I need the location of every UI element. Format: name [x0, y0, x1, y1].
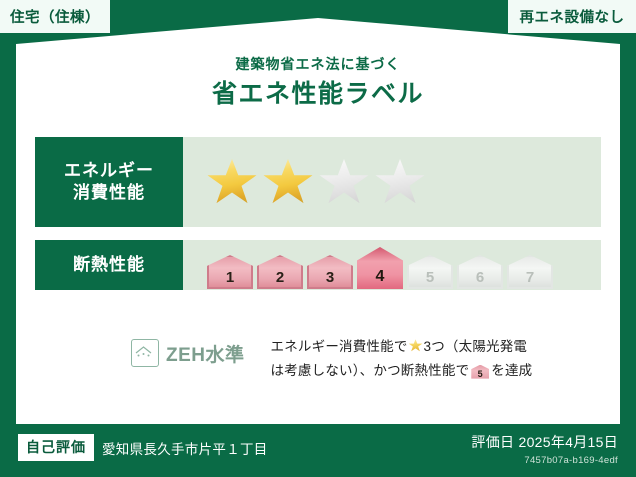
star-icon [409, 339, 423, 352]
dwelling-type-badge-label: 住宅（住棟） [10, 6, 100, 27]
zeh-standard-block: ZEH水準 エネルギー消費性能で3つ（太陽光発電 は考慮しない）、かつ断熱性能で… [35, 333, 601, 395]
zeh-label: ZEH水準 [166, 340, 245, 367]
star-icon [375, 158, 425, 206]
renewable-equipment-badge: 再エネ設備なし [508, 0, 636, 33]
label-id: 7457b07a-b169-4edf [471, 455, 618, 466]
insulation-grade-7: 7 [507, 255, 553, 289]
insulation-performance-label-box: 断熱性能 [35, 240, 183, 290]
insulation-grade-scale: 1234567 [183, 240, 601, 290]
insulation-grade-3: 3 [307, 255, 353, 289]
grade-strip: 1234567 [207, 239, 557, 291]
footer-left: 自己評価 愛知県長久手市片平１丁目 [18, 434, 268, 461]
energy-performance-label-line1: エネルギー [64, 160, 154, 182]
renewable-equipment-badge-label: 再エネ設備なし [520, 6, 625, 27]
dwelling-type-badge: 住宅（住棟） [0, 0, 110, 33]
star-icon [319, 158, 369, 206]
star-icon [207, 158, 257, 206]
star-rating [183, 137, 601, 227]
evaluation-date: 評価日 2025年4月15日 [471, 432, 618, 452]
zeh-desc-part4: を達成 [491, 363, 532, 378]
grade-badge-icon: 5 [471, 365, 489, 379]
page-title: 省エネ性能ラベル [0, 79, 636, 109]
zeh-mark: ZEH水準 [131, 339, 245, 367]
insulation-grade-value: 4 [376, 268, 385, 286]
insulation-grade-value: 1 [226, 269, 234, 286]
insulation-grade-value: 6 [476, 269, 484, 286]
energy-performance-label: 住宅（住棟） 再エネ設備なし 建築物省エネ法に基づく 省エネ性能ラベル エネルギ… [0, 0, 636, 477]
star-icon [263, 158, 313, 206]
zeh-description: エネルギー消費性能で3つ（太陽光発電 は考慮しない）、かつ断熱性能で5を達成 [271, 333, 533, 382]
zeh-desc-part3: は考慮しない）、かつ断熱性能で [271, 363, 470, 378]
energy-performance-label-box: エネルギー 消費性能 [35, 137, 183, 227]
footer-right: 評価日 2025年4月15日 7457b07a-b169-4edf [471, 432, 618, 466]
zeh-desc-part1: エネルギー消費性能で [271, 339, 408, 354]
insulation-grade-5: 5 [407, 255, 453, 289]
insulation-performance-row: 断熱性能 1234567 [35, 240, 601, 290]
insulation-grade-4: 4 [357, 247, 403, 289]
heading-subtitle: 建築物省エネ法に基づく [0, 56, 636, 73]
zeh-house-icon [131, 339, 159, 367]
label-heading: 建築物省エネ法に基づく 省エネ性能ラベル [0, 56, 636, 109]
address-text: 愛知県長久手市片平１丁目 [102, 438, 268, 458]
insulation-grade-6: 6 [457, 255, 503, 289]
insulation-grade-2: 2 [257, 255, 303, 289]
insulation-performance-label: 断熱性能 [73, 254, 145, 276]
insulation-grade-value: 7 [526, 269, 534, 286]
label-footer: 自己評価 愛知県長久手市片平１丁目 評価日 2025年4月15日 7457b07… [0, 424, 636, 477]
insulation-grade-value: 5 [426, 269, 434, 286]
insulation-grade-value: 2 [276, 269, 284, 286]
energy-performance-row: エネルギー 消費性能 [35, 137, 601, 227]
zeh-desc-part2: 3つ（太陽光発電 [424, 339, 528, 354]
insulation-grade-value: 3 [326, 269, 334, 286]
self-evaluation-badge: 自己評価 [18, 434, 94, 461]
energy-performance-label-line2: 消費性能 [73, 182, 145, 204]
insulation-grade-1: 1 [207, 255, 253, 289]
